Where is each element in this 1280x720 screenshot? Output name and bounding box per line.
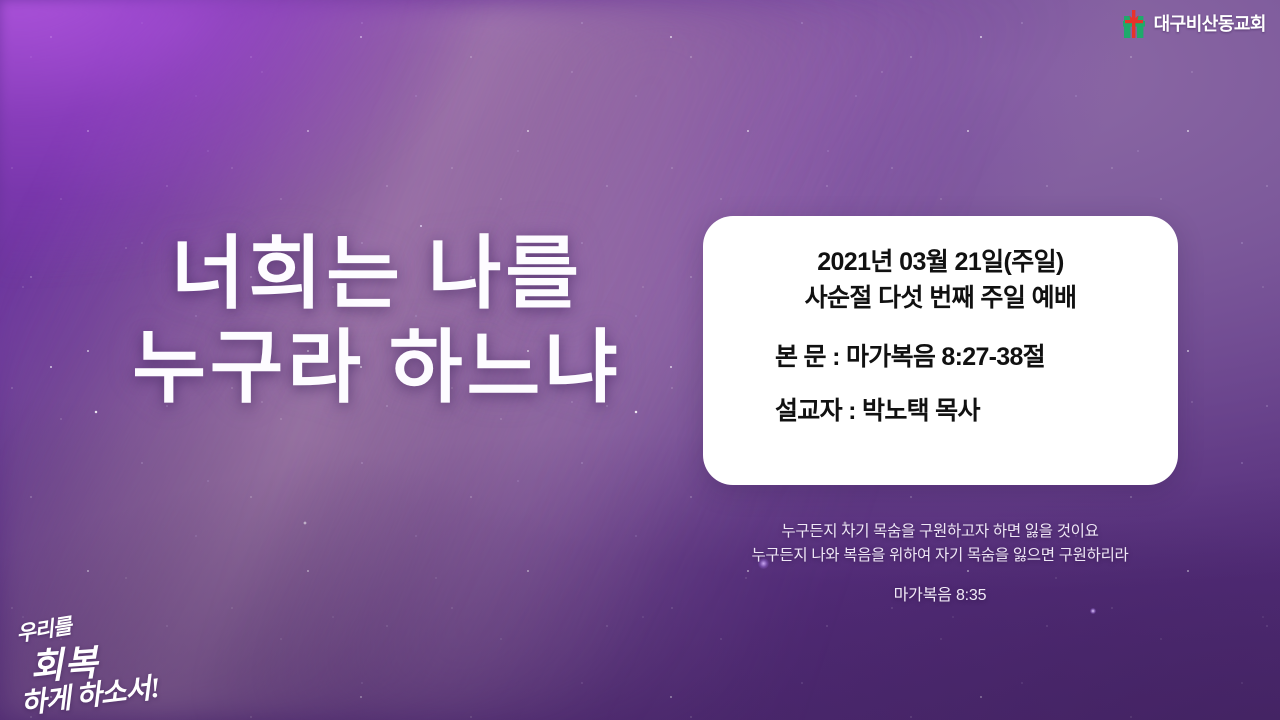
service-name: 사순절 다섯 번째 주일 예배 <box>703 281 1178 317</box>
sermon-title-line-2: 누구라 하느냐 <box>62 322 692 416</box>
glow-star-3 <box>1090 608 1096 614</box>
scripture-quote-line-1: 누구든지 자기 목숨을 구원하고자 하면 잃을 것이요 <box>690 520 1190 544</box>
sermon-slide: 대구비산동교회 너희는 나를 누구라 하느냐 2021년 03월 21일(주일)… <box>0 0 1280 720</box>
service-date: 2021년 03월 21일(주일) <box>703 245 1178 281</box>
scripture-reference: 마가복음 8:35 <box>690 584 1190 609</box>
service-heading: 2021년 03월 21일(주일) 사순절 다섯 번째 주일 예배 <box>703 216 1178 316</box>
scripture-passage-row: 본 문 : 마가복음 8:27-38절 <box>775 344 1178 372</box>
sermon-title-line-1: 너희는 나를 <box>62 228 692 322</box>
cross-icon <box>1121 9 1147 39</box>
church-logo: 대구비산동교회 <box>1121 9 1266 39</box>
calligraphy-watermark: 우리를 회복 하게 하소서! <box>8 610 198 714</box>
scripture-quote: 누구든지 자기 목숨을 구원하고자 하면 잃을 것이요 누구든지 나와 복음을 … <box>690 520 1190 609</box>
scripture-quote-line-2: 누구든지 나와 복음을 위하여 자기 목숨을 잃으면 구원하리라 <box>690 544 1190 568</box>
service-info-card: 2021년 03월 21일(주일) 사순절 다섯 번째 주일 예배 본 문 : … <box>703 216 1178 485</box>
sermon-title: 너희는 나를 누구라 하느냐 <box>62 228 692 417</box>
preacher-row: 설교자 : 박노택 목사 <box>775 398 1178 426</box>
church-name: 대구비산동교회 <box>1154 15 1266 33</box>
service-detail-rows: 본 문 : 마가복음 8:27-38절 설교자 : 박노택 목사 <box>703 344 1178 425</box>
